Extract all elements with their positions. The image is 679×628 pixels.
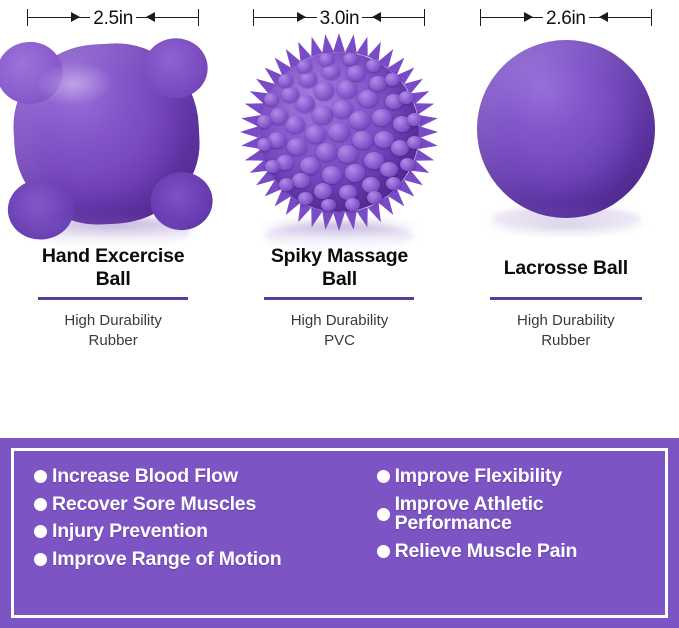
spike bbox=[333, 33, 345, 52]
spike-nub bbox=[385, 73, 400, 86]
spike-nub bbox=[345, 164, 365, 181]
title-underline-accent bbox=[38, 297, 188, 300]
spiky-ball-shape bbox=[241, 34, 437, 230]
dimension-line-2: 3.0in bbox=[253, 6, 425, 30]
dimension-cap-right bbox=[198, 9, 199, 26]
product-infographic: 2.5in Hand Excercise Ball bbox=[0, 0, 679, 628]
product-title-line: Ball bbox=[271, 268, 408, 291]
dimension-cap-right bbox=[424, 9, 425, 26]
spike-nub bbox=[322, 64, 340, 79]
material-line: High Durability bbox=[453, 311, 679, 331]
spike-nub bbox=[407, 136, 422, 149]
spike-nub bbox=[321, 199, 336, 212]
title-underline-accent bbox=[264, 297, 414, 300]
spike-nub bbox=[380, 162, 398, 177]
spike-nub bbox=[270, 108, 288, 123]
spike-nub bbox=[265, 160, 280, 173]
benefit-item: Improve Range of Motion bbox=[34, 550, 373, 570]
bullet-dot-icon bbox=[377, 545, 390, 558]
dimension-value: 2.6in bbox=[543, 9, 589, 28]
material-line: PVC bbox=[226, 331, 452, 351]
product-caption-1: Hand Excercise Ball High Durability Rubb… bbox=[0, 245, 226, 351]
spike-nub bbox=[358, 90, 378, 107]
spike-nub bbox=[319, 53, 334, 66]
benefit-item: Improve Athletic Performance bbox=[377, 495, 665, 534]
spike-nub bbox=[278, 74, 293, 87]
spike-nub bbox=[314, 183, 332, 198]
product-material-3: High Durability Rubber bbox=[453, 311, 679, 351]
benefit-label: Recover Sore Muscles bbox=[52, 495, 256, 515]
spike bbox=[240, 126, 259, 138]
product-card-hand-exercise-ball: 2.5in Hand Excercise Ball bbox=[0, 0, 226, 360]
product-material-2: High Durability PVC bbox=[226, 311, 452, 351]
benefit-item: Recover Sore Muscles bbox=[34, 495, 373, 515]
material-line: Rubber bbox=[453, 331, 679, 351]
spike-nub bbox=[352, 131, 373, 149]
arrow-left-icon bbox=[372, 12, 381, 22]
product-card-spiky-massage-ball: 3.0in Spiky Massage Ball High D bbox=[226, 0, 452, 360]
benefit-label: Improve Flexibility bbox=[395, 467, 562, 487]
dimension-value: 2.5in bbox=[90, 9, 136, 28]
benefit-label: Increase Blood Flow bbox=[52, 467, 238, 487]
benefit-label: Injury Prevention bbox=[52, 522, 208, 542]
spike-nub bbox=[295, 95, 315, 112]
benefits-column-left: Increase Blood FlowRecover Sore MusclesI… bbox=[14, 467, 373, 615]
benefit-label: Improve Range of Motion bbox=[52, 550, 281, 570]
arrow-left-icon bbox=[146, 12, 155, 22]
spike-nub bbox=[279, 178, 294, 191]
cube-corner-lobe bbox=[142, 37, 209, 100]
dimension-line-3: 2.6in bbox=[480, 6, 652, 30]
product-image-spiky-massage-ball bbox=[226, 30, 452, 245]
product-title-1: Hand Excercise Ball bbox=[0, 245, 226, 291]
spike-nub bbox=[337, 80, 357, 97]
product-material-1: High Durability Rubber bbox=[0, 311, 226, 351]
benefits-panel-border: Increase Blood FlowRecover Sore MusclesI… bbox=[11, 448, 668, 618]
bullet-dot-icon bbox=[34, 553, 47, 566]
spike-nub bbox=[367, 191, 382, 204]
squishy-cube-shape bbox=[10, 39, 204, 228]
benefit-item: Improve Flexibility bbox=[377, 467, 665, 487]
dimension-cap-left bbox=[27, 9, 28, 26]
benefit-item: Relieve Muscle Pain bbox=[377, 542, 665, 562]
benefits-column-right: Improve FlexibilityImprove Athletic Perf… bbox=[373, 467, 665, 615]
product-title-line: Ball bbox=[42, 268, 184, 291]
dimension-cap-left bbox=[480, 9, 481, 26]
spike-nub bbox=[257, 138, 272, 151]
product-title-line: Lacrosse Ball bbox=[504, 257, 628, 280]
dimension-value: 3.0in bbox=[317, 9, 363, 28]
surface-reflection bbox=[264, 223, 414, 249]
product-card-lacrosse-ball: 2.6in Lacrosse Ball High Durability Rubb… bbox=[453, 0, 679, 360]
material-line: High Durability bbox=[0, 311, 226, 331]
product-image-lacrosse-ball bbox=[453, 30, 679, 245]
arrow-right-icon bbox=[71, 12, 80, 22]
spike-nub bbox=[298, 192, 313, 205]
product-title-3: Lacrosse Ball bbox=[453, 245, 679, 291]
dimension-line-1: 2.5in bbox=[27, 6, 199, 30]
arrow-right-icon bbox=[297, 12, 306, 22]
title-underline-accent bbox=[490, 297, 642, 300]
spike-nub bbox=[349, 111, 370, 129]
spike-nub bbox=[322, 166, 342, 183]
surface-reflection bbox=[30, 217, 190, 247]
bullet-dot-icon bbox=[377, 470, 390, 483]
bullet-dot-icon bbox=[34, 498, 47, 511]
product-comparison-row: 2.5in Hand Excercise Ball bbox=[0, 0, 679, 360]
arrow-left-icon bbox=[599, 12, 608, 22]
bullet-dot-icon bbox=[34, 525, 47, 538]
dimension-cap-right bbox=[651, 9, 652, 26]
benefits-panel: Increase Blood FlowRecover Sore MusclesI… bbox=[0, 438, 679, 628]
benefit-label: Improve Athletic Performance bbox=[395, 495, 665, 534]
spike-nub bbox=[292, 173, 310, 188]
product-title-line: Hand Excercise bbox=[42, 245, 184, 268]
spike-nub bbox=[314, 82, 334, 99]
material-line: Rubber bbox=[0, 331, 226, 351]
spike bbox=[319, 33, 334, 54]
product-title-2: Spiky Massage Ball bbox=[226, 245, 452, 291]
spike-nub bbox=[400, 158, 415, 171]
material-line: High Durability bbox=[226, 311, 452, 331]
spike-nub bbox=[305, 125, 326, 143]
spike bbox=[419, 126, 438, 138]
arrow-right-icon bbox=[524, 12, 533, 22]
benefit-item: Increase Blood Flow bbox=[34, 467, 373, 487]
spike-nub bbox=[386, 177, 401, 190]
spike-nub bbox=[399, 91, 414, 104]
spike-nub bbox=[285, 116, 305, 133]
spike-nub bbox=[299, 71, 317, 86]
bullet-dot-icon bbox=[34, 470, 47, 483]
dimension-cap-left bbox=[253, 9, 254, 26]
product-caption-2: Spiky Massage Ball High Durability PVC bbox=[226, 245, 452, 351]
product-image-hand-exercise-ball bbox=[0, 30, 226, 245]
benefit-item: Injury Prevention bbox=[34, 522, 373, 542]
lacrosse-ball-shape bbox=[477, 40, 655, 218]
spike-nub bbox=[312, 106, 333, 124]
spike-nub bbox=[300, 157, 320, 174]
spike-nub bbox=[316, 143, 337, 161]
bullet-dot-icon bbox=[377, 508, 390, 521]
surface-reflection bbox=[491, 207, 641, 231]
product-caption-3: Lacrosse Ball High Durability Rubber bbox=[453, 245, 679, 351]
spike-nub bbox=[372, 109, 392, 126]
benefit-label: Relieve Muscle Pain bbox=[395, 542, 578, 562]
